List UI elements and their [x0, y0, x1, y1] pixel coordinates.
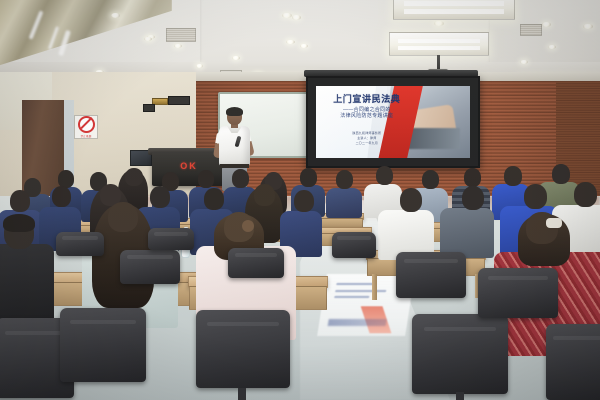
- person-body: [440, 208, 494, 258]
- presentation-slide: 上门宣讲民法典 ——合同编之合同的 法律风险防范专题讲座 陕西九和律师事务所 主…: [316, 86, 470, 158]
- person-head: [552, 164, 570, 184]
- reflection-title: [327, 319, 386, 326]
- reflection-text-line: [335, 290, 386, 292]
- ceiling-downlight: [282, 13, 292, 18]
- person-body: [326, 188, 362, 218]
- person-head: [524, 184, 547, 209]
- chair[interactable]: [412, 314, 508, 394]
- ceiling-downlight: [300, 44, 308, 48]
- slide-meta-block: 陕西九和律师事务所 主讲人：律师 二〇二一年九月: [331, 131, 402, 146]
- projection-screen[interactable]: 上门宣讲民法典 ——合同编之合同的 法律风险防范专题讲座 陕西九和律师事务所 主…: [306, 76, 480, 168]
- ceiling-downlight: [111, 13, 120, 18]
- reflection-text-line: [334, 296, 370, 298]
- chair[interactable]: [56, 232, 104, 256]
- ceiling-panel-light: [389, 32, 489, 56]
- ceiling-downlight: [542, 22, 551, 27]
- reflection-text-line: [336, 283, 377, 285]
- person-head: [232, 169, 249, 188]
- person-hair-bun: [242, 220, 254, 232]
- slide-title: 上门宣讲民法典: [322, 95, 411, 105]
- person-head: [336, 170, 353, 189]
- hair-clip: [546, 218, 562, 228]
- person-body: [0, 244, 54, 328]
- ceiling-downlight: [520, 60, 528, 64]
- ceiling-downlight: [232, 56, 240, 60]
- person-head: [400, 188, 422, 212]
- person-head: [204, 188, 224, 210]
- person-head: [52, 186, 71, 207]
- person-head: [464, 168, 481, 187]
- ceiling-panel-light: [393, 0, 515, 20]
- no-smoking-sign: 禁止吸烟: [74, 115, 98, 139]
- presenter-hair: [226, 107, 243, 116]
- chair[interactable]: [228, 248, 284, 278]
- person-head: [108, 202, 138, 232]
- person-head: [422, 170, 439, 189]
- no-smoking-label: 禁止吸烟: [81, 134, 92, 138]
- chair[interactable]: [196, 310, 290, 388]
- person-head: [254, 184, 275, 206]
- person-head: [10, 190, 30, 212]
- chair[interactable]: [546, 324, 600, 400]
- ceiling-downlight: [292, 15, 301, 20]
- chair-post: [456, 392, 464, 400]
- person-head: [504, 166, 522, 186]
- wall-plaque-dark: [168, 96, 190, 105]
- ceiling-downlight: [434, 21, 444, 26]
- person-head: [574, 182, 597, 207]
- person-head: [294, 190, 314, 212]
- no-smoking-icon: [78, 116, 95, 133]
- conference-room-photo: 禁止吸烟 上门宣讲民法典 ——合同编之合同的 法律风险防范专题讲座 陕西九和律师…: [0, 0, 600, 400]
- person-hair: [3, 214, 35, 232]
- ceiling-vent: [166, 28, 196, 42]
- person-head: [125, 168, 143, 186]
- ceiling-downlight: [548, 45, 556, 49]
- ceiling-downlight: [286, 40, 295, 44]
- chair[interactable]: [332, 232, 376, 258]
- chair-post: [238, 388, 246, 400]
- chair[interactable]: [396, 252, 466, 298]
- slide-meta-date: 二〇二一年九月: [331, 141, 402, 146]
- ceiling-downlight: [196, 64, 203, 68]
- chair[interactable]: [148, 228, 194, 250]
- desk-leg: [372, 274, 377, 300]
- chair[interactable]: [120, 250, 180, 284]
- person-head: [150, 186, 170, 208]
- chair[interactable]: [478, 268, 558, 318]
- presenter-belt: [220, 164, 249, 168]
- person-head: [300, 168, 317, 187]
- person-head: [376, 166, 393, 185]
- chair[interactable]: [60, 308, 146, 382]
- person-head: [198, 170, 214, 188]
- ceiling-downlight: [144, 37, 152, 41]
- person-head: [462, 186, 484, 210]
- ceiling-downlight: [174, 44, 182, 48]
- person-head: [526, 212, 558, 244]
- ceiling-vent: [520, 24, 542, 36]
- wall-plaque-dark: [143, 104, 155, 112]
- slide-subtitle-2: 法律风险防范专题讲座: [322, 113, 411, 119]
- ceiling-downlight: [583, 24, 593, 29]
- slide-text-block: 上门宣讲民法典 ——合同编之合同的 法律风险防范专题讲座: [322, 95, 411, 119]
